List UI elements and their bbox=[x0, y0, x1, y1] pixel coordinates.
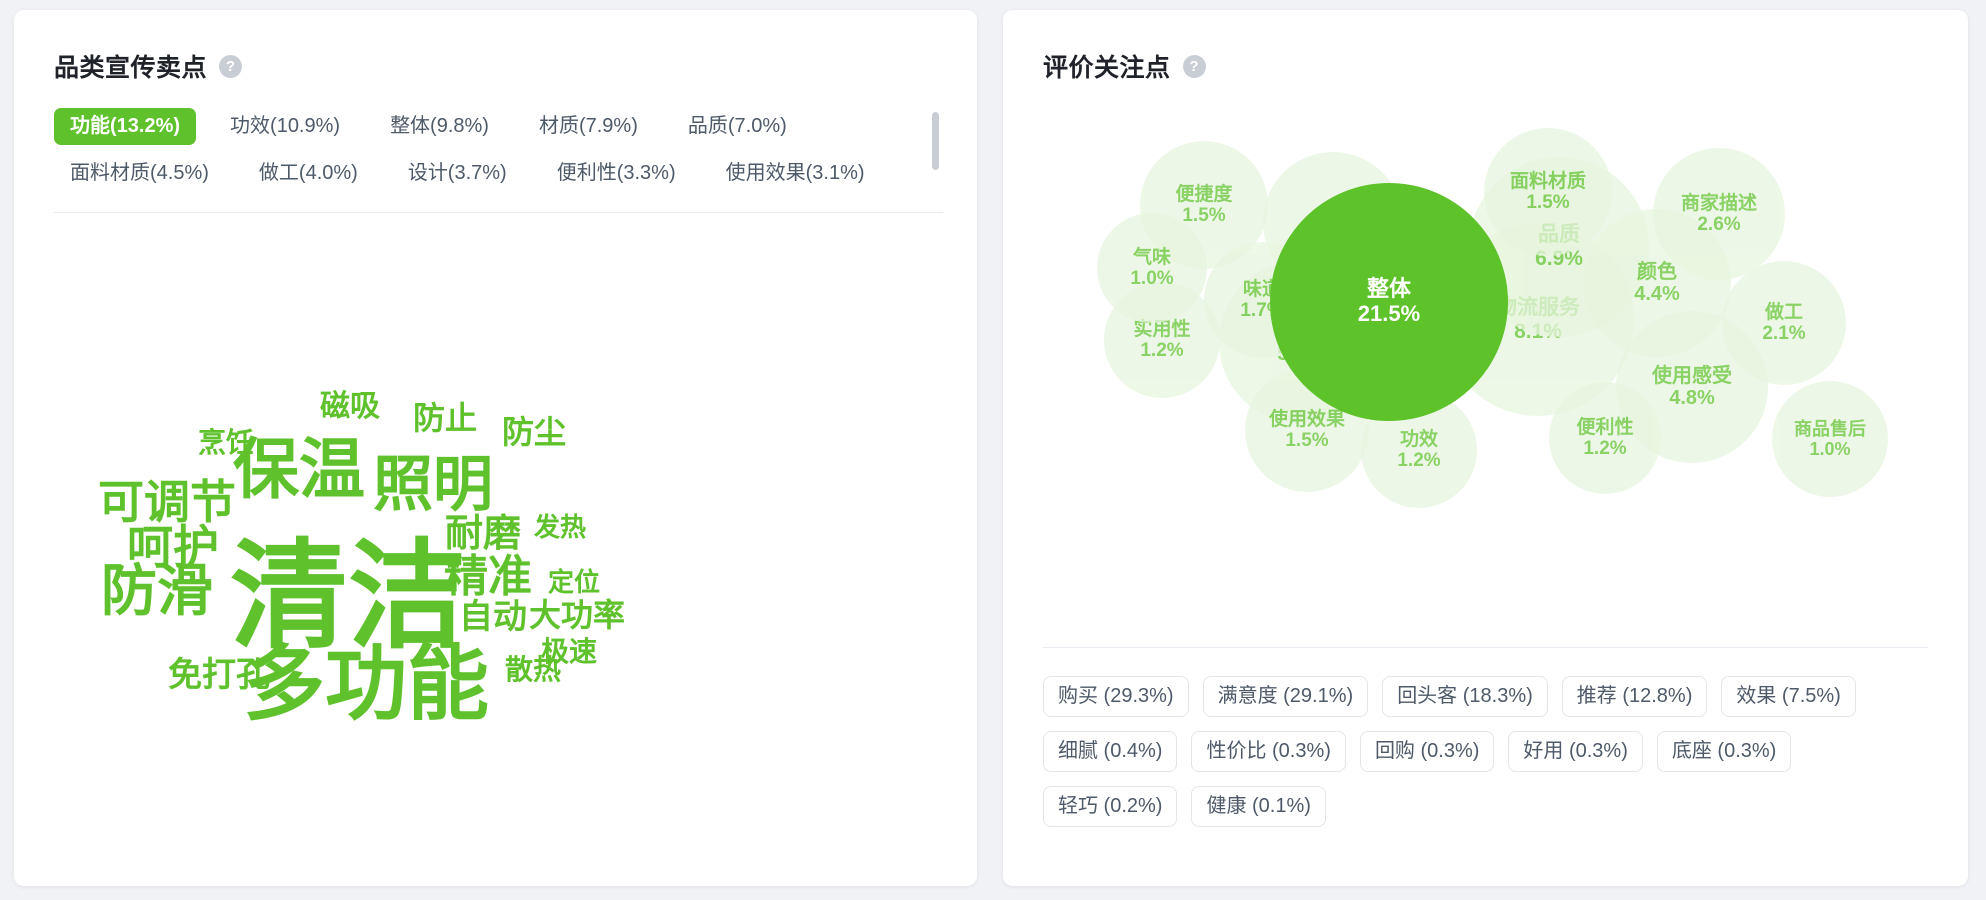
tab-5[interactable]: 面料材质(4.5%) bbox=[54, 155, 225, 192]
bubble-item[interactable]: 商家描述2.6% bbox=[1653, 148, 1785, 280]
bubble-label: 颜色 bbox=[1637, 261, 1677, 283]
review-tag[interactable]: 购买 (29.3%) bbox=[1043, 676, 1189, 717]
word-cloud-item[interactable]: 防止 bbox=[413, 402, 477, 434]
word-cloud-item[interactable]: 呵护 bbox=[127, 524, 219, 570]
tabs-scrollbar-thumb[interactable] bbox=[932, 112, 939, 170]
bubble-item[interactable]: 商品售后1.0% bbox=[1772, 381, 1888, 497]
bubble-label: 商家描述 bbox=[1681, 193, 1757, 214]
bubble-value: 1.2% bbox=[1140, 340, 1183, 361]
bubble-label: 使用效果 bbox=[1269, 409, 1345, 430]
bubble-value: 21.5% bbox=[1358, 302, 1420, 327]
word-cloud-item[interactable]: 防尘 bbox=[502, 416, 566, 448]
selling-point-tabs: 功能(13.2%)功效(10.9%)整体(9.8%)材质(7.9%)品质(7.0… bbox=[54, 108, 943, 213]
word-cloud-item[interactable]: 烹饪 bbox=[198, 429, 254, 457]
tab-9[interactable]: 使用效果(3.1%) bbox=[710, 155, 881, 192]
word-cloud-item[interactable]: 定位 bbox=[548, 569, 600, 595]
tab-8[interactable]: 便利性(3.3%) bbox=[541, 155, 692, 192]
tab-3[interactable]: 材质(7.9%) bbox=[523, 108, 654, 145]
bubble-value: 1.2% bbox=[1397, 450, 1440, 471]
review-tag[interactable]: 满意度 (29.1%) bbox=[1203, 676, 1369, 717]
bubble-value: 1.0% bbox=[1809, 439, 1850, 459]
bubble-item[interactable]: 做工2.1% bbox=[1722, 261, 1846, 385]
bubble-value: 1.2% bbox=[1583, 438, 1626, 459]
category-selling-points-card: 品类宣传卖点 ? 功能(13.2%)功效(10.9%)整体(9.8%)材质(7.… bbox=[14, 10, 977, 886]
bubble-label: 便利性 bbox=[1576, 417, 1633, 438]
bubble-label: 便捷度 bbox=[1175, 184, 1232, 205]
tabs-scroll-area: 功能(13.2%)功效(10.9%)整体(9.8%)材质(7.9%)品质(7.0… bbox=[54, 108, 943, 192]
review-tag[interactable]: 效果 (7.5%) bbox=[1721, 676, 1855, 717]
review-tag[interactable]: 轻巧 (0.2%) bbox=[1043, 786, 1177, 827]
review-tag[interactable]: 回头客 (18.3%) bbox=[1382, 676, 1548, 717]
left-card-header: 品类宣传卖点 ? bbox=[14, 10, 977, 84]
tab-1[interactable]: 功效(10.9%) bbox=[214, 108, 356, 145]
bubble-value: 4.8% bbox=[1669, 387, 1715, 409]
review-tag-list: 购买 (29.3%)满意度 (29.1%)回头客 (18.3%)推荐 (12.8… bbox=[1003, 648, 1933, 827]
review-tag[interactable]: 细腻 (0.4%) bbox=[1043, 731, 1177, 772]
bubble-label: 面料材质 bbox=[1510, 171, 1586, 192]
word-cloud-item[interactable]: 多功能 bbox=[243, 644, 489, 726]
tabs-row: 功能(13.2%)功效(10.9%)整体(9.8%)材质(7.9%)品质(7.0… bbox=[54, 108, 917, 192]
bubble-value: 2.1% bbox=[1762, 323, 1805, 344]
word-cloud-item[interactable]: 可调节 bbox=[98, 479, 236, 525]
bubble-item[interactable]: 气味1.0% bbox=[1097, 213, 1207, 323]
bubble-item[interactable]: 便利性1.2% bbox=[1549, 382, 1661, 494]
bubble-value: 1.5% bbox=[1182, 205, 1225, 226]
review-panel-title: 评价关注点 bbox=[1043, 48, 1171, 84]
bubble-value: 4.4% bbox=[1634, 283, 1680, 305]
word-cloud-item[interactable]: 发热 bbox=[534, 514, 586, 540]
bubble-label: 整体 bbox=[1367, 277, 1411, 302]
word-cloud-item[interactable]: 自动 bbox=[459, 600, 527, 634]
word-cloud: 清洁多功能保温照明防滑可调节呵护精准耐磨免打孔自动大功率防尘防止磁吸散热极速烹饪… bbox=[50, 217, 940, 777]
review-tag[interactable]: 回购 (0.3%) bbox=[1360, 731, 1494, 772]
tab-7[interactable]: 设计(3.7%) bbox=[392, 155, 523, 192]
bubble-label: 功效 bbox=[1400, 429, 1438, 450]
review-tag[interactable]: 健康 (0.1%) bbox=[1191, 786, 1325, 827]
help-icon[interactable]: ? bbox=[1183, 55, 1206, 78]
word-cloud-item[interactable]: 大功率 bbox=[529, 599, 625, 631]
word-cloud-item[interactable]: 耐磨 bbox=[445, 515, 521, 553]
word-cloud-item[interactable]: 极速 bbox=[541, 638, 597, 666]
right-card-header: 评价关注点 ? bbox=[1003, 10, 1968, 84]
page-title: 品类宣传卖点 bbox=[54, 48, 207, 84]
word-cloud-item[interactable]: 精准 bbox=[444, 555, 532, 599]
bubble-value: 1.5% bbox=[1526, 192, 1569, 213]
word-cloud-item[interactable]: 照明 bbox=[373, 455, 493, 515]
review-tag[interactable]: 好用 (0.3%) bbox=[1508, 731, 1642, 772]
tab-4[interactable]: 品质(7.0%) bbox=[672, 108, 803, 145]
word-cloud-item[interactable]: 磁吸 bbox=[320, 392, 380, 422]
bubble-value: 1.0% bbox=[1130, 268, 1173, 289]
tab-0[interactable]: 功能(13.2%) bbox=[54, 108, 196, 145]
review-tag[interactable]: 底座 (0.3%) bbox=[1657, 731, 1791, 772]
word-cloud-item[interactable]: 免打孔 bbox=[168, 658, 270, 692]
bubble-label: 做工 bbox=[1765, 302, 1803, 323]
bubble-item[interactable]: 面料材质1.5% bbox=[1484, 128, 1612, 256]
review-tag[interactable]: 性价比 (0.3%) bbox=[1191, 731, 1345, 772]
review-tag[interactable]: 推荐 (12.8%) bbox=[1562, 676, 1708, 717]
bubble-value: 2.6% bbox=[1697, 214, 1740, 235]
tab-2[interactable]: 整体(9.8%) bbox=[374, 108, 505, 145]
tab-6[interactable]: 做工(4.0%) bbox=[243, 155, 374, 192]
bubble-item[interactable]: 整体21.5% bbox=[1270, 183, 1508, 421]
help-icon[interactable]: ? bbox=[219, 55, 242, 78]
bubble-value: 1.5% bbox=[1285, 430, 1328, 451]
review-focus-points-card: 评价关注点 ? 物流服务8.1%品质6.9%客服5.7%使用感受4.8%颜色4.… bbox=[1003, 10, 1968, 886]
dashboard-page: 品类宣传卖点 ? 功能(13.2%)功效(10.9%)整体(9.8%)材质(7.… bbox=[0, 0, 1986, 900]
bubble-label: 气味 bbox=[1133, 247, 1171, 268]
bubble-label: 商品售后 bbox=[1794, 419, 1866, 439]
bubble-label: 使用感受 bbox=[1652, 365, 1732, 387]
bubble-chart: 物流服务8.1%品质6.9%客服5.7%使用感受4.8%颜色4.4%购物商家描述… bbox=[1039, 102, 1939, 647]
